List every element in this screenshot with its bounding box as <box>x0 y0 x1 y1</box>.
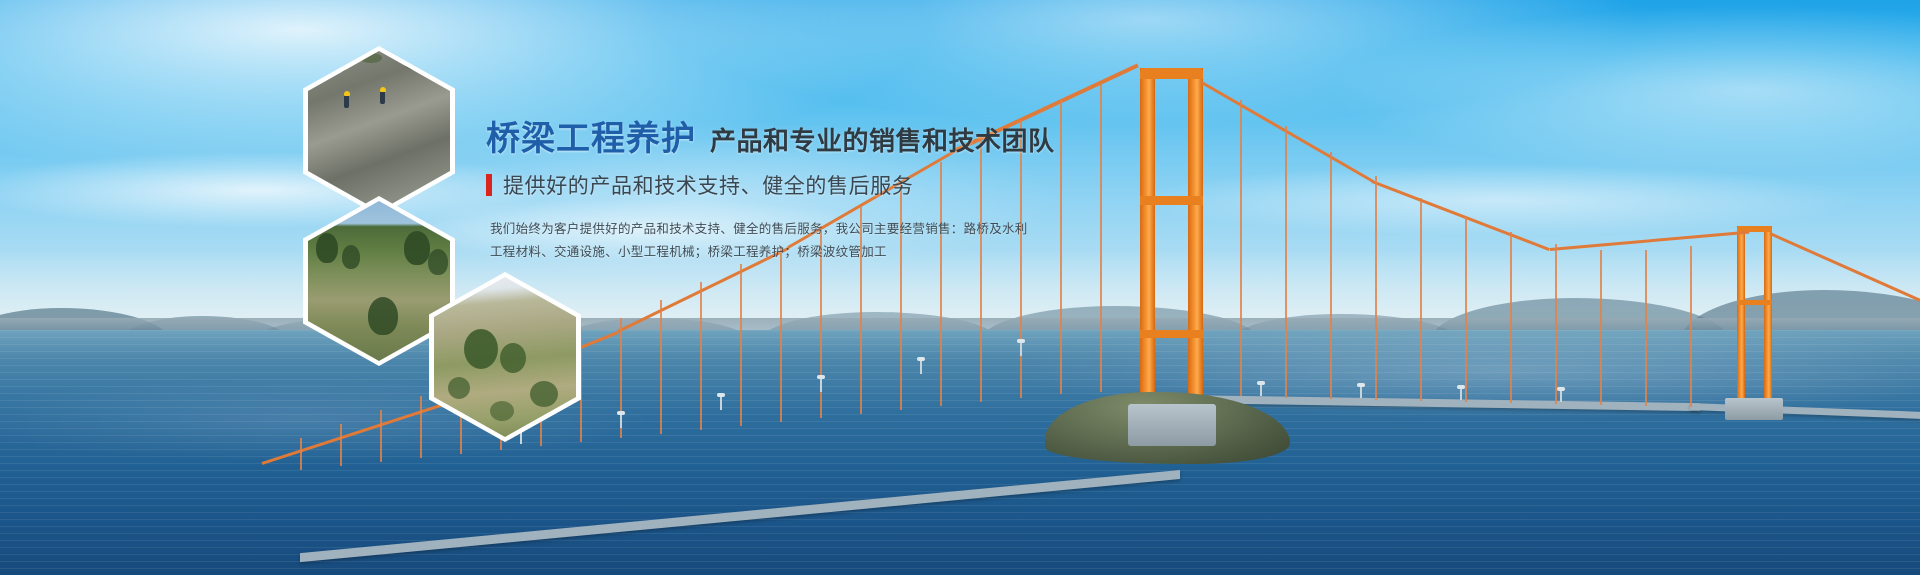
accent-bar <box>486 174 492 196</box>
banner-subheadline: 提供好的产品和技术支持、健全的售后服务 <box>486 170 1046 200</box>
suspension-bridge <box>0 0 1920 575</box>
subheadline-text: 提供好的产品和技术支持、健全的售后服务 <box>503 170 913 200</box>
banner-headline: 桥梁工程养护产品和专业的销售和技术团队 <box>486 122 1046 156</box>
hex-photo-1 <box>303 46 455 216</box>
headline-primary: 桥梁工程养护 <box>486 120 696 158</box>
description-line-2: 工程材料、交通设施、小型工程机械；桥梁工程养护；桥梁波纹管加工 <box>490 241 1046 264</box>
banner-description: 我们始终为客户提供好的产品和技术支持、健全的售后服务，我公司主要经营销售：路桥及… <box>490 218 1046 264</box>
hero-banner: 桥梁工程养护产品和专业的销售和技术团队 提供好的产品和技术支持、健全的售后服务 … <box>0 0 1920 575</box>
hex-photo-3 <box>429 272 581 442</box>
headline-secondary: 产品和专业的销售和技术团队 <box>710 126 1055 156</box>
banner-copy: 桥梁工程养护产品和专业的销售和技术团队 提供好的产品和技术支持、健全的售后服务 … <box>486 122 1046 264</box>
description-line-1: 我们始终为客户提供好的产品和技术支持、健全的售后服务，我公司主要经营销售：路桥及… <box>490 218 1046 241</box>
